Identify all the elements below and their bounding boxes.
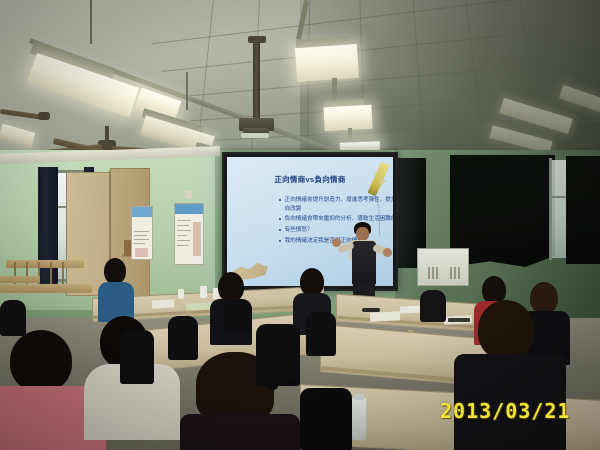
bench-slat <box>50 262 52 284</box>
vent-slot <box>432 267 434 279</box>
date-stamp: 2013/03/21 <box>440 399 570 423</box>
wall-poster-right[interactable] <box>174 203 204 265</box>
office-chair[interactable] <box>306 312 336 356</box>
wooden-bench-seat <box>0 284 92 293</box>
audience-head <box>530 282 558 314</box>
wooden-bench-back <box>6 260 84 268</box>
curtain-right-3 <box>566 156 600 264</box>
fan-hub-far <box>38 112 50 120</box>
cabinet-item <box>124 240 131 256</box>
audience-head <box>478 300 534 360</box>
poster-text-line <box>134 231 149 232</box>
audience-head <box>10 330 72 392</box>
vent-slot <box>428 267 430 279</box>
papers-on-table[interactable] <box>400 305 422 313</box>
office-chair[interactable] <box>0 300 26 336</box>
poster-header <box>132 207 152 217</box>
slide-bullet: 正向情緒會提升創造力、增進思考彈性、提升、促成正向改變 <box>279 196 393 213</box>
paper-cup[interactable] <box>178 289 184 299</box>
papers-on-table[interactable] <box>370 311 400 322</box>
projector-lens <box>241 133 269 138</box>
office-chair[interactable] <box>420 290 446 322</box>
vent-slot <box>458 267 460 279</box>
wooden-bench-arm <box>0 276 40 283</box>
audience-body <box>180 414 300 450</box>
poster-header <box>175 204 203 214</box>
office-chair[interactable] <box>256 324 300 386</box>
poster-image <box>193 222 201 256</box>
chair-wheel <box>268 382 278 390</box>
item-on-table <box>448 318 470 322</box>
bottle-cap <box>354 394 364 400</box>
poster-text-line <box>134 239 149 240</box>
vent-slot <box>454 267 456 279</box>
ceiling-light-r1 <box>295 44 359 82</box>
office-chair[interactable] <box>224 300 252 334</box>
light-drop-rod <box>186 72 188 110</box>
presenter-hand-right <box>383 248 392 257</box>
wall-fixture <box>185 190 192 199</box>
audience-head <box>104 258 126 284</box>
audience-head <box>218 272 244 302</box>
poster-text-line <box>177 245 188 246</box>
poster-image <box>135 248 148 257</box>
papers-on-table[interactable] <box>186 302 212 310</box>
chair-wheel <box>286 378 295 385</box>
poster-text-line <box>177 225 189 226</box>
projector-ceiling-plate <box>248 36 266 43</box>
office-chair[interactable] <box>168 316 198 360</box>
audience-head <box>300 268 324 296</box>
white-cabinet-unit[interactable] <box>417 248 469 286</box>
wall-poster-left[interactable] <box>131 206 153 260</box>
vent-slot <box>436 267 438 279</box>
vent-slot <box>450 267 452 279</box>
office-chair[interactable] <box>120 330 154 384</box>
papers-on-table[interactable] <box>152 299 174 308</box>
poster-text-line <box>177 240 190 241</box>
light-drop-rod <box>90 0 92 44</box>
window-right <box>552 160 566 258</box>
classroom-photo: 正向情商vs負向情商 正向情緒會提升創造力、增進思考彈性、提升、促成正向改變 負… <box>0 0 600 450</box>
office-chair[interactable] <box>300 388 352 450</box>
bench-slat <box>62 262 64 284</box>
paper-cup[interactable] <box>200 286 207 298</box>
slide-title: 正向情商vs負向情商 <box>240 174 379 185</box>
poster-text-line <box>177 235 187 236</box>
window-mullion <box>552 196 566 198</box>
presenter-face <box>356 227 369 241</box>
poster-text-line <box>177 230 191 231</box>
poster-text-line <box>134 243 145 244</box>
poster-text-line <box>134 235 147 236</box>
presenter-hand-left <box>332 238 341 247</box>
window-frame-right <box>549 158 552 260</box>
poster-text-line <box>177 220 191 221</box>
projector-pole <box>253 38 260 120</box>
pen-on-table[interactable] <box>362 308 380 312</box>
water-bottle[interactable] <box>352 398 366 440</box>
